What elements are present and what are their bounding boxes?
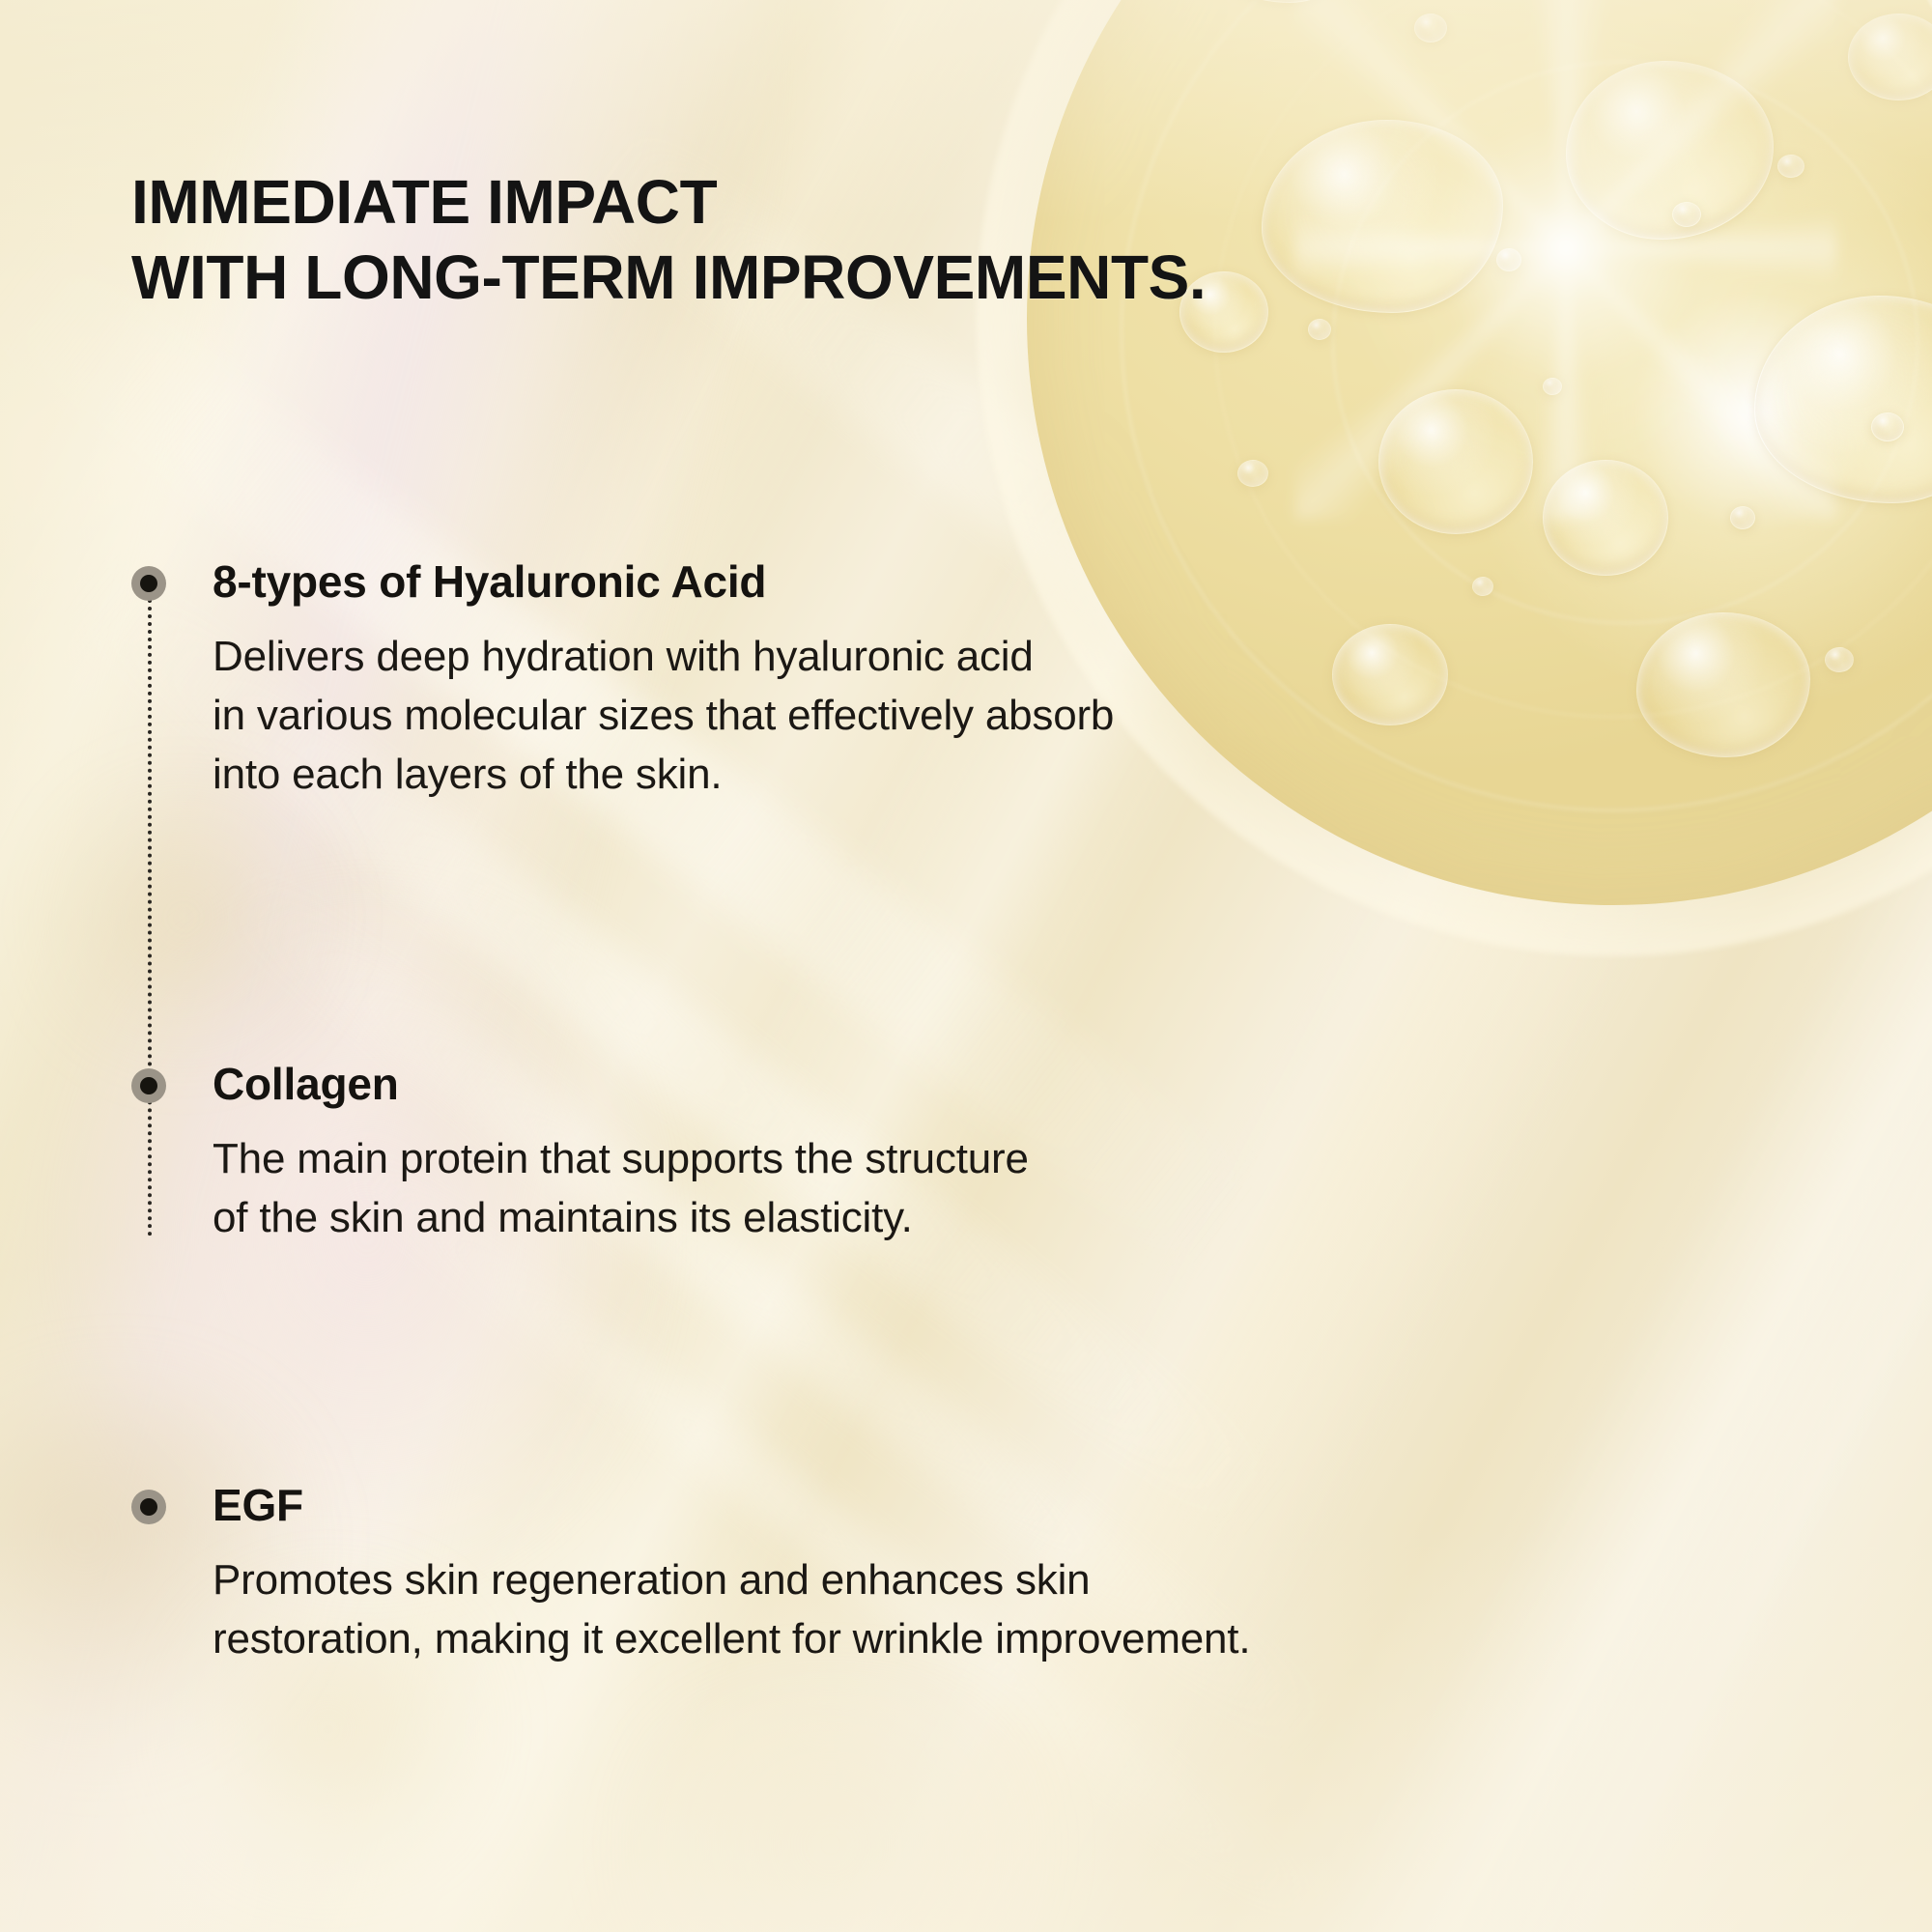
feature-item-egf: EGF Promotes skin regeneration and enhan… xyxy=(131,1482,1250,1669)
bullet-dot-icon xyxy=(131,1068,166,1103)
page-title: IMMEDIATE IMPACT WITH LONG-TERM IMPROVEM… xyxy=(131,164,1206,315)
feature-description: Delivers deep hydration with hyaluronic … xyxy=(213,628,1114,804)
content-layer: IMMEDIATE IMPACT WITH LONG-TERM IMPROVEM… xyxy=(0,0,1932,1932)
feature-title: EGF xyxy=(213,1482,1250,1528)
feature-description: The main protein that supports the struc… xyxy=(213,1130,1029,1247)
feature-description: Promotes skin regeneration and enhances … xyxy=(213,1551,1250,1668)
bullet-dot-icon xyxy=(131,1490,166,1524)
feature-item-hyaluronic-acid: 8-types of Hyaluronic Acid Delivers deep… xyxy=(131,558,1114,804)
feature-title: Collagen xyxy=(213,1061,1029,1107)
feature-item-collagen: Collagen The main protein that supports … xyxy=(131,1061,1029,1248)
bullet-dot-icon xyxy=(131,566,166,601)
feature-title: 8-types of Hyaluronic Acid xyxy=(213,558,1114,605)
